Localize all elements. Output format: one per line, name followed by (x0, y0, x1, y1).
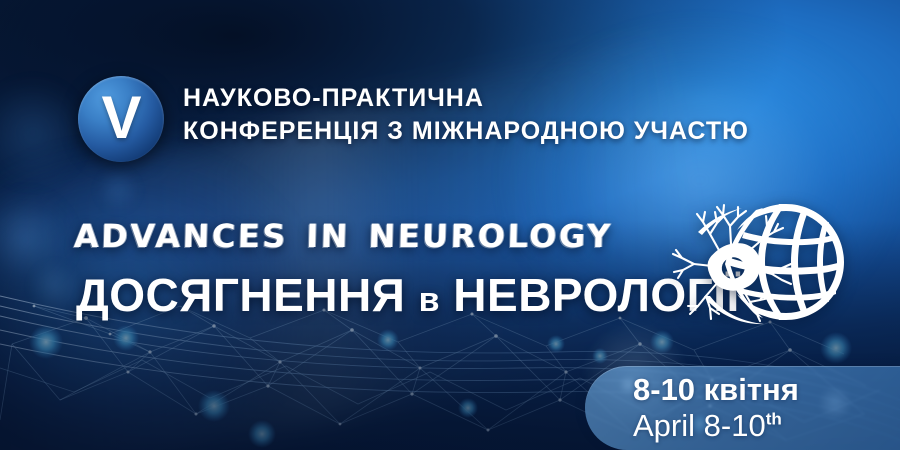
date-badge: 8-10 квітня April 8-10th (585, 366, 900, 450)
header-line-1: НАУКОВО-ПРАКТИЧНА (183, 82, 883, 115)
edition-number-label: V (101, 88, 140, 148)
title-ukrainian-connector: в (419, 281, 440, 319)
date-english-month: April (633, 408, 695, 443)
conference-banner: V НАУКОВО-ПРАКТИЧНА КОНФЕРЕНЦІЯ З МІЖНАР… (0, 0, 900, 450)
date-english-ordinal-suffix: th (766, 410, 782, 429)
date-english: April 8-10th (633, 408, 900, 444)
conference-header: НАУКОВО-ПРАКТИЧНА КОНФЕРЕНЦІЯ З МІЖНАРОД… (183, 82, 883, 148)
globe-neuron-icon (668, 198, 850, 330)
date-english-range: 8-10 (704, 408, 766, 443)
header-line-2: КОНФЕРЕНЦІЯ З МІЖНАРОДНОЮ УЧАСТЮ (183, 115, 883, 148)
date-ukrainian: 8-10 квітня (633, 372, 900, 408)
edition-badge: V (78, 76, 164, 162)
title-ukrainian: ДОСЯГНЕННЯ в НЕВРОЛОГІЇ (76, 272, 740, 318)
title-ukrainian-part1: ДОСЯГНЕННЯ (76, 269, 405, 321)
title-english: ADVANCES IN NEUROLOGY (73, 208, 613, 254)
